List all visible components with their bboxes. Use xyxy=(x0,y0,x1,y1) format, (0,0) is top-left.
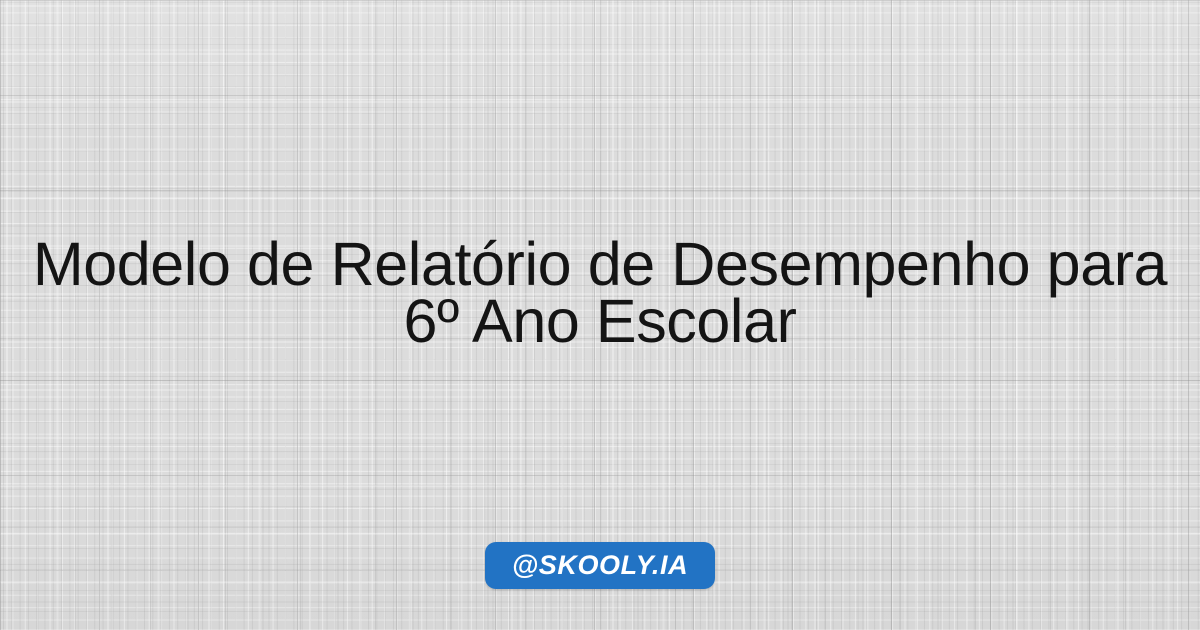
poster-canvas: Modelo de Relatório de Desempenho para 6… xyxy=(0,0,1200,630)
page-title-container: Modelo de Relatório de Desempenho para 6… xyxy=(0,236,1200,350)
page-title: Modelo de Relatório de Desempenho para 6… xyxy=(24,236,1176,350)
brand-badge-container: @SKOOLY.IA xyxy=(0,542,1200,589)
brand-badge: @SKOOLY.IA xyxy=(485,542,715,589)
